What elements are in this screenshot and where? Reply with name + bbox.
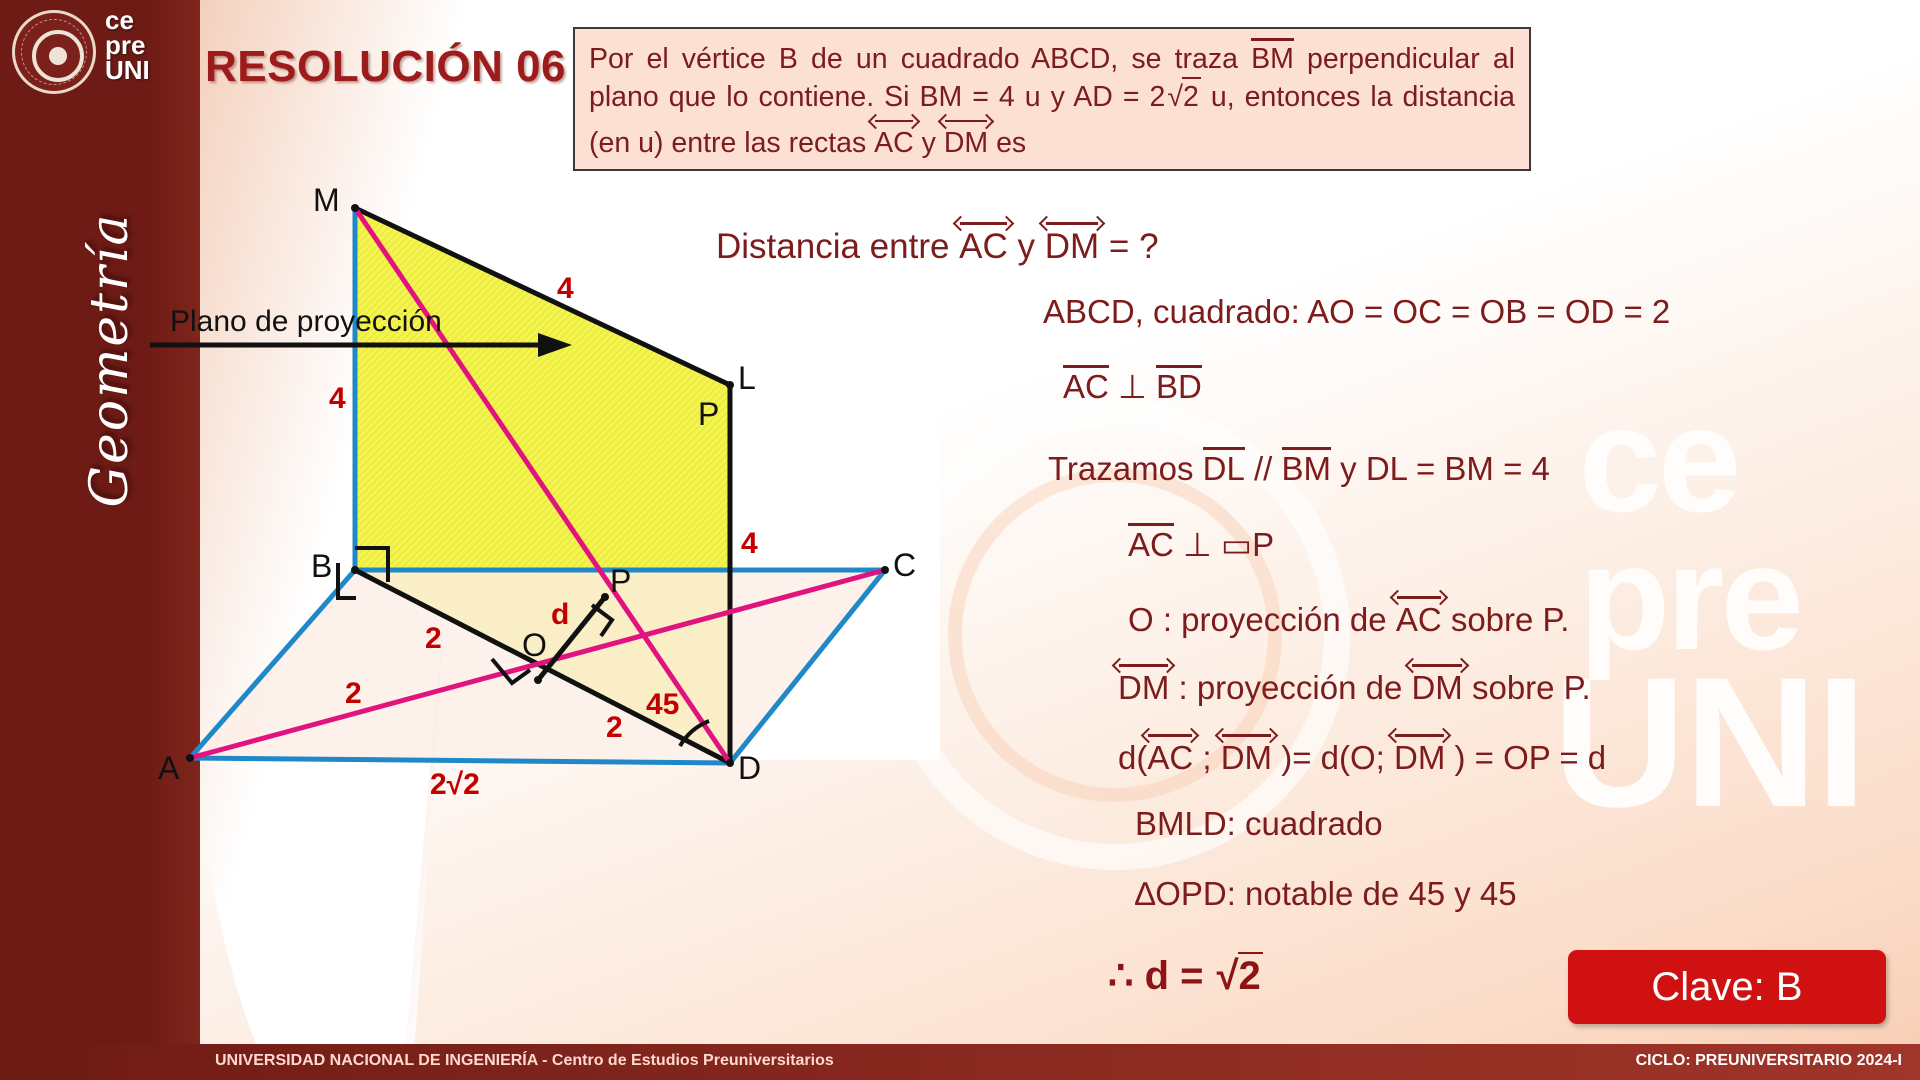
label-c: C bbox=[893, 547, 916, 584]
sol-l8-d: ) = OP = d bbox=[1445, 739, 1606, 776]
perp-symbol-1: ⊥ bbox=[1109, 368, 1156, 405]
ce-pre-watermark: ce pre bbox=[1579, 390, 1800, 666]
label-p: P bbox=[610, 563, 631, 600]
slide-root: ce pre UNI ce pre UNI Geometría RESOLUCI… bbox=[0, 0, 1920, 1080]
label-b: B bbox=[311, 548, 332, 585]
solution-line-opd: ∆OPD: notable de 45 y 45 bbox=[1135, 875, 1517, 913]
line-dm-6a: DM bbox=[1221, 730, 1272, 777]
brand-line-uni: UNI bbox=[105, 58, 150, 83]
segment-dl: DL bbox=[1203, 448, 1245, 488]
geometry-figure: M L P B C P O A D d 4 4 4 2 2 2 2√2 45 P… bbox=[140, 150, 980, 850]
line-ac-6: AC bbox=[1147, 730, 1193, 777]
segment-ac-3: AC bbox=[1128, 524, 1174, 564]
solution-line-trazamos-dl: Trazamos DL // BM y DL = BM = 4 bbox=[1048, 448, 1550, 488]
solution-line-square-props: ABCD, cuadrado: AO = OC = OB = OD = 2 bbox=[1043, 293, 1670, 331]
clave-badge: Clave: B bbox=[1568, 950, 1886, 1024]
line-dm-1: DM bbox=[1045, 218, 1099, 267]
sol-l1-c: = ? bbox=[1099, 227, 1158, 266]
solution-line-ac-perp-bd: AC ⊥ BD bbox=[1063, 366, 1202, 406]
footer-cycle-text: CICLO: PREUNIVERSITARIO 2024-I bbox=[1636, 1052, 1902, 1070]
label-o: O bbox=[522, 627, 547, 664]
sol-l5-b: ⊥ ▭P bbox=[1174, 526, 1274, 563]
label-d-distance: d bbox=[551, 598, 569, 632]
final-answer: ∴ d = √2 bbox=[1108, 952, 1263, 999]
sol-l6-a: O : proyección de bbox=[1128, 601, 1396, 638]
footer-university-text: UNIVERSIDAD NACIONAL DE INGENIERÍA - Cen… bbox=[215, 1052, 834, 1070]
sqrt-2-answer: √2 bbox=[1215, 952, 1263, 999]
vertex-dot-p bbox=[601, 593, 609, 601]
problem-text-5: es bbox=[988, 127, 1026, 159]
label-m: M bbox=[313, 182, 340, 219]
vertex-dot-b bbox=[351, 566, 359, 574]
vertex-dot-d bbox=[726, 759, 734, 767]
line-dm-5a: DM bbox=[1118, 660, 1169, 707]
label-d: D bbox=[738, 750, 761, 787]
sol-l8-c: )= d(O; bbox=[1272, 739, 1394, 776]
problem-text-1: Por el vértice B de un cuadrado ABCD, se… bbox=[589, 43, 1251, 75]
solution-line-bmld: BMLD: cuadrado bbox=[1135, 805, 1383, 843]
measure-angle-45: 45 bbox=[646, 688, 679, 722]
vertex-dot-m bbox=[351, 204, 359, 212]
solution-line-ac-perp-plane: AC ⊥ ▭P bbox=[1128, 524, 1274, 564]
watermark-ce-text: ce bbox=[1579, 390, 1800, 528]
sol-l7-a: : proyección de bbox=[1169, 669, 1411, 706]
vertex-dot-o bbox=[534, 676, 542, 684]
plane-label: Plano de proyección bbox=[170, 305, 442, 339]
segment-bm: BM bbox=[1251, 39, 1294, 77]
answer-d-label: d = bbox=[1145, 954, 1215, 998]
sqrt-2-statement: √2 bbox=[1165, 77, 1201, 115]
footer-bar: UNIVERSIDAD NACIONAL DE INGENIERÍA - Cen… bbox=[0, 1044, 1920, 1080]
sol-l6-b: sobre P. bbox=[1442, 601, 1570, 638]
vertex-dot-l bbox=[726, 381, 734, 389]
measure-bm: 4 bbox=[329, 382, 346, 416]
vertex-dot-a bbox=[186, 754, 194, 762]
subject-label-geometria: Geometría bbox=[80, 210, 140, 510]
vertex-dot-c bbox=[881, 566, 889, 574]
measure-ml: 4 bbox=[557, 272, 574, 306]
sol-l8-b: ; bbox=[1193, 739, 1221, 776]
measure-ao: 2 bbox=[345, 677, 362, 711]
measure-od: 2 bbox=[606, 711, 623, 745]
gear-icon bbox=[32, 30, 84, 82]
measure-bo: 2 bbox=[425, 622, 442, 656]
label-plane-p: P bbox=[698, 396, 719, 433]
therefore-symbol: ∴ bbox=[1108, 954, 1145, 998]
sol-l4-c: y DL = BM = 4 bbox=[1331, 450, 1550, 487]
label-l: L bbox=[738, 360, 756, 397]
line-ac-4: AC bbox=[1396, 592, 1442, 639]
figure-svg bbox=[140, 150, 980, 850]
page-title: RESOLUCIÓN 06 bbox=[205, 42, 566, 92]
line-dm-5b: DM bbox=[1411, 660, 1462, 707]
segment-ac-2: AC bbox=[1063, 366, 1109, 406]
solution-line-distance-eq: d(AC ; DM )= d(O; DM ) = OP = d bbox=[1118, 730, 1606, 777]
solution-line-proj-o: O : proyección de AC sobre P. bbox=[1128, 592, 1569, 639]
line-dm-6b: DM bbox=[1394, 730, 1445, 777]
sol-l1-b: y bbox=[1008, 227, 1045, 266]
segment-bd-2: BD bbox=[1156, 366, 1202, 406]
sol-l8-a: d( bbox=[1118, 739, 1147, 776]
sol-l4-a: Trazamos bbox=[1048, 450, 1203, 487]
sol-l4-b: // bbox=[1245, 450, 1282, 487]
uni-logo-icon bbox=[12, 10, 96, 94]
measure-ad: 2√2 bbox=[430, 768, 480, 802]
measure-dl: 4 bbox=[741, 527, 758, 561]
label-a: A bbox=[158, 750, 179, 787]
segment-bm-2: BM bbox=[1282, 448, 1332, 488]
sol-l7-b: sobre P. bbox=[1463, 669, 1591, 706]
solution-line-proj-dm: DM : proyección de DM sobre P. bbox=[1118, 660, 1591, 707]
cepre-uni-brand: ce pre UNI bbox=[105, 8, 150, 83]
